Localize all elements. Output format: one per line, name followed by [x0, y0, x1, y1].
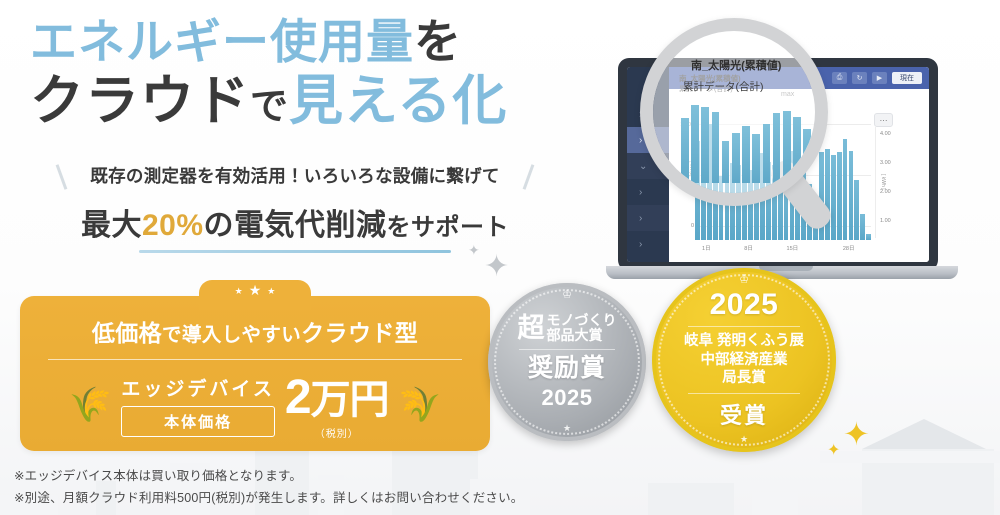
award-badge-gold: ♔ 2025 岐阜 発明くふう展 中部経済産業 局長賞 受賞 ★	[652, 268, 836, 452]
price-card-divider	[48, 359, 462, 360]
headline-line-2: クラウドで見える化	[30, 71, 590, 131]
chart-right-axis: [ kWh ] 4.00 3.00 2.00 1.00	[875, 127, 909, 238]
headline-line1-tail: を	[414, 15, 462, 68]
footnotes: ※エッジデバイス本体は買い取り価格となります。 ※別途、月額クラウド利用料500…	[14, 466, 524, 510]
sidebar-item-6[interactable]: ›	[627, 231, 669, 257]
footnote-2: ※別途、月額クラウド利用料500円(税別)が発生します。詳しくはお問い合わせくだ…	[14, 488, 524, 510]
price-number: 2	[285, 371, 311, 424]
sparkle-silver-large-icon: ✦	[484, 252, 509, 282]
headline-line1-highlight: エネルギー使用量	[30, 15, 414, 68]
price-tax-note: （税別）	[285, 425, 389, 440]
r-tick-300: 3.00	[880, 160, 891, 166]
footnote-1: ※エッジデバイス本体は買い取り価格となります。	[14, 466, 524, 488]
price-card-heading-strong: 低価格	[92, 320, 162, 346]
chart-bar	[843, 139, 848, 240]
device-block: エッジデバイス 本体価格	[121, 374, 274, 437]
price-card-heading-strong-2: クラウド型	[301, 320, 418, 346]
headline-line2-particle: で	[250, 86, 289, 128]
chart-bar	[849, 151, 854, 240]
x-tick-1: 1日	[702, 244, 711, 252]
headline-line2-highlight: 見える化	[289, 71, 507, 131]
subheading-line1-text: 既存の測定器を有効活用！いろいろな設備に繋げて	[90, 166, 499, 186]
chart-bar	[860, 214, 865, 240]
subheading-line-1: 既存の測定器を有効活用！いろいろな設備に繋げて	[90, 163, 499, 188]
price-amount: 2万円	[285, 374, 389, 422]
subheading-middle: の電気代削減	[204, 209, 387, 242]
refresh-icon[interactable]: ↻	[852, 72, 867, 84]
wheat-laurel-left-icon: 🌾	[69, 388, 111, 422]
x-tick-28: 28日	[843, 244, 855, 252]
now-button[interactable]: 現在	[892, 72, 922, 84]
headline-line-1: エネルギー使用量を	[30, 14, 590, 69]
x-tick-8: 8日	[744, 244, 753, 252]
price-card: ★ ★ ★ 低価格で導入しやすいクラウド型 🌾 エッジデバイス 本体価格 2万円…	[20, 296, 490, 451]
sparkle-silver-small-icon: ✦	[468, 243, 480, 257]
r-tick-200: 2.00	[880, 189, 891, 195]
y-tick-0: 0	[691, 223, 694, 229]
gold-badge-dot-ring	[658, 274, 830, 446]
slash-right-decor	[522, 164, 534, 189]
r-tick-400: 4.00	[880, 131, 891, 137]
price-card-body: 🌾 エッジデバイス 本体価格 2万円 （税別） 🌾	[20, 372, 490, 438]
right-axis-unit: [ kWh ]	[880, 174, 886, 190]
magnifier-ring	[640, 18, 828, 206]
magnifier-glass: 南_太陽光(累積値) 累計データ(合計)	[640, 18, 840, 218]
percent-highlight: 20%	[142, 209, 204, 242]
page-title: エネルギー使用量を クラウドで見える化	[30, 14, 590, 132]
subheading-block: 既存の測定器を有効活用！いろいろな設備に繋げて 最大20%の電気代削減をサポート	[30, 163, 560, 253]
chart-bar	[854, 180, 859, 240]
hero-banner: エネルギー使用量を クラウドで見える化 既存の測定器を有効活用！いろいろな設備に…	[0, 0, 1000, 515]
chart-x-axis: 1日 8日 15日 28日	[695, 244, 871, 254]
price-card-heading-mid: で導入しやすい	[162, 324, 301, 346]
wheat-laurel-right-icon: 🌾	[399, 388, 441, 422]
headline-line2-lead: クラウド	[30, 71, 250, 131]
price-card-tab: ★ ★ ★	[199, 280, 311, 310]
star-icon-right: ★	[267, 287, 275, 296]
price-unit: 万円	[311, 378, 389, 422]
star-icon-center: ★	[249, 283, 262, 297]
device-price-box: 本体価格	[121, 406, 274, 437]
crown-icon-gold: ♔	[739, 275, 749, 286]
silver-badge-dot-ring	[494, 289, 640, 435]
chart-bar	[866, 234, 871, 240]
slash-left-decor	[56, 164, 68, 189]
star-icon-gold-bottom: ★	[740, 435, 748, 444]
award-badge-silver: ♔ 超 モノづくり 部品大賞 奨励賞 2025 ★	[488, 283, 646, 441]
subheading-line-2: 最大20%の電気代削減をサポート	[30, 200, 560, 244]
subheading-prefix: 最大	[81, 209, 142, 242]
star-icon-left: ★	[235, 287, 243, 296]
play-icon[interactable]: ▶	[872, 72, 887, 84]
subheading-underline	[139, 250, 451, 253]
sparkle-gold-small-icon: ✦	[827, 443, 840, 459]
x-tick-15: 15日	[787, 244, 799, 252]
crown-icon-silver: ♔	[562, 290, 572, 301]
chart-more-button[interactable]: ⋯	[874, 113, 893, 127]
price-block: 2万円 （税別）	[285, 374, 389, 440]
device-label: エッジデバイス	[121, 374, 274, 401]
subheading-tail: をサポート	[387, 214, 510, 241]
sparkle-gold-large-icon: ✦	[843, 418, 870, 450]
star-icon-silver-bottom: ★	[563, 424, 571, 433]
r-tick-100: 1.00	[880, 218, 891, 224]
